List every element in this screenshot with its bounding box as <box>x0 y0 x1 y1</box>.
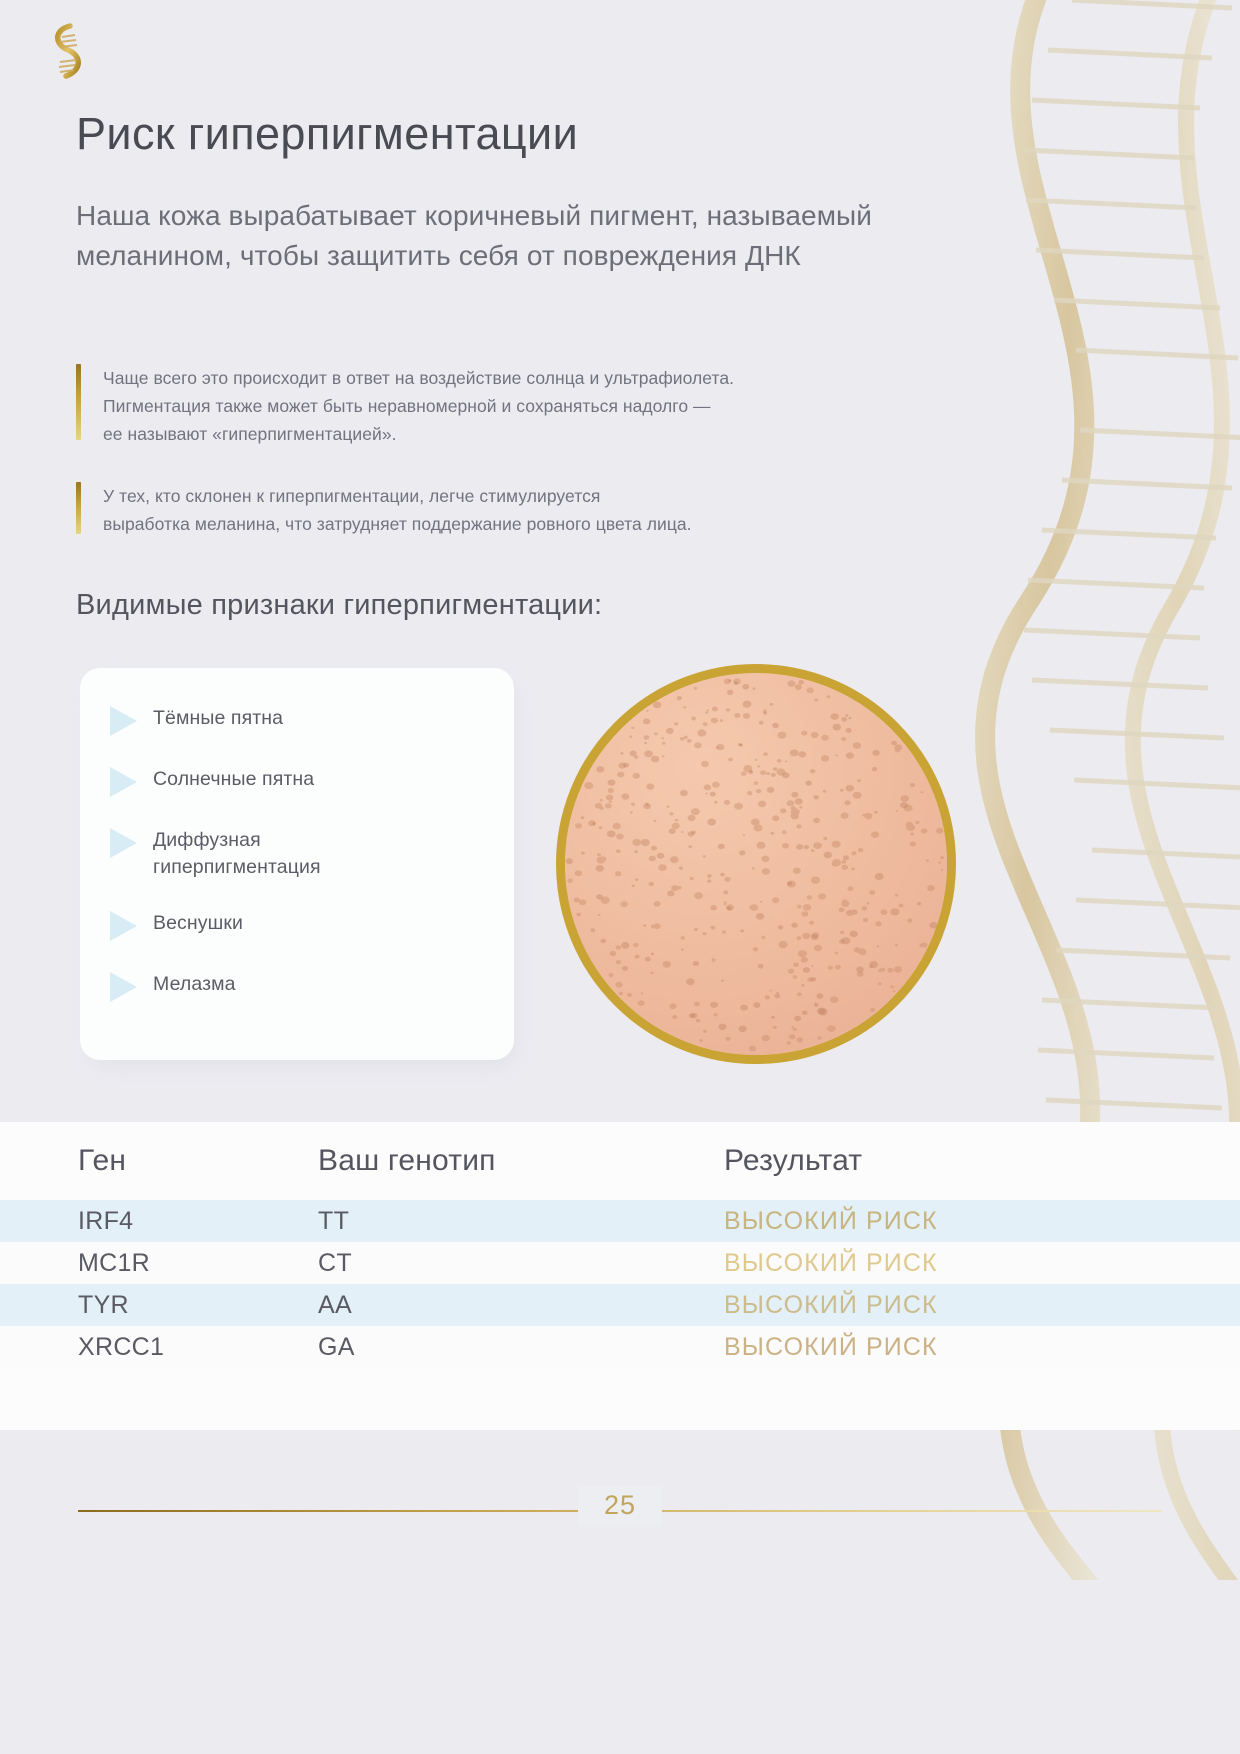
sign-label: Веснушки <box>153 907 243 937</box>
quote-block-2: У тех, кто склонен к гиперпигментации, л… <box>76 482 976 538</box>
column-header-result: Результат <box>724 1144 1240 1178</box>
cell-genotype: TT <box>318 1207 724 1236</box>
status-badge: ВЫСОКИЙ РИСК <box>724 1291 1240 1320</box>
photo-gold-ring <box>556 664 956 1064</box>
table-row: XRCC1 GA ВЫСОКИЙ РИСК <box>0 1326 1240 1368</box>
table-bottom-padding <box>0 1368 1240 1430</box>
list-item: Тёмные пятна <box>110 702 484 736</box>
quote-1-line-2: Пигментация также может быть неравномерн… <box>103 392 734 420</box>
quote-2-line-2: выработка меланина, что затрудняет подде… <box>103 510 692 538</box>
quote-1-line-3: ее называют «гиперпигментацией». <box>103 420 734 448</box>
cell-gene: XRCC1 <box>0 1333 318 1362</box>
sign-label: Тёмные пятна <box>153 702 283 732</box>
quote-1-line-1: Чаще всего это происходит в ответ на воз… <box>103 364 734 392</box>
cell-gene: MC1R <box>0 1249 318 1278</box>
intro-paragraph: Наша кожа вырабатывает коричневый пигмен… <box>76 196 956 276</box>
status-badge: ВЫСОКИЙ РИСК <box>724 1333 1240 1362</box>
list-item: Диффузная гиперпигментация <box>110 824 484 880</box>
quote-2-line-1: У тех, кто склонен к гиперпигментации, л… <box>103 482 692 510</box>
column-header-gene: Ген <box>0 1144 318 1178</box>
gold-accent-bar <box>76 364 81 440</box>
cell-genotype: AA <box>318 1291 724 1320</box>
sign-label: Мелазма <box>153 968 236 998</box>
skin-hyperpigmentation-photo <box>556 664 956 1064</box>
triangle-right-icon <box>110 972 137 1002</box>
column-header-genotype: Ваш генотип <box>318 1144 724 1178</box>
dna-helix-icon <box>40 22 94 84</box>
gold-accent-bar <box>76 482 81 534</box>
genetic-results-table: Ген Ваш генотип Результат IRF4 TT ВЫСОКИ… <box>0 1122 1240 1430</box>
list-item: Мелазма <box>110 968 484 1002</box>
cell-genotype: CT <box>318 1249 724 1278</box>
page-title: Риск гиперпигментации <box>76 108 578 160</box>
triangle-right-icon <box>110 828 137 858</box>
sign-label: Солнечные пятна <box>153 763 314 793</box>
status-badge: ВЫСОКИЙ РИСК <box>724 1249 1240 1278</box>
quote-2-text: У тех, кто склонен к гиперпигментации, л… <box>103 482 692 538</box>
cell-gene: IRF4 <box>0 1207 318 1236</box>
triangle-right-icon <box>110 911 137 941</box>
table-header-row: Ген Ваш генотип Результат <box>0 1122 1240 1200</box>
brand-logo <box>40 22 94 84</box>
list-item: Веснушки <box>110 907 484 941</box>
quote-1-text: Чаще всего это происходит в ответ на воз… <box>103 364 734 449</box>
sign-label: Диффузная гиперпигментация <box>153 824 321 880</box>
signs-section-heading: Видимые признаки гиперпигментации: <box>76 589 602 622</box>
page-number: 25 <box>604 1490 636 1520</box>
triangle-right-icon <box>110 767 137 797</box>
page-footer: 25 <box>0 1470 1240 1754</box>
list-item: Солнечные пятна <box>110 763 484 797</box>
status-badge: ВЫСОКИЙ РИСК <box>724 1207 1240 1236</box>
signs-card: Тёмные пятна Солнечные пятна Диффузная г… <box>80 668 514 1060</box>
cell-genotype: GA <box>318 1333 724 1362</box>
cell-gene: TYR <box>0 1291 318 1320</box>
quote-block-1: Чаще всего это происходит в ответ на воз… <box>76 364 1006 449</box>
table-row: TYR AA ВЫСОКИЙ РИСК <box>0 1284 1240 1326</box>
table-row: IRF4 TT ВЫСОКИЙ РИСК <box>0 1200 1240 1242</box>
table-row: MC1R CT ВЫСОКИЙ РИСК <box>0 1242 1240 1284</box>
triangle-right-icon <box>110 706 137 736</box>
page-number-wrap: 25 <box>578 1486 662 1525</box>
